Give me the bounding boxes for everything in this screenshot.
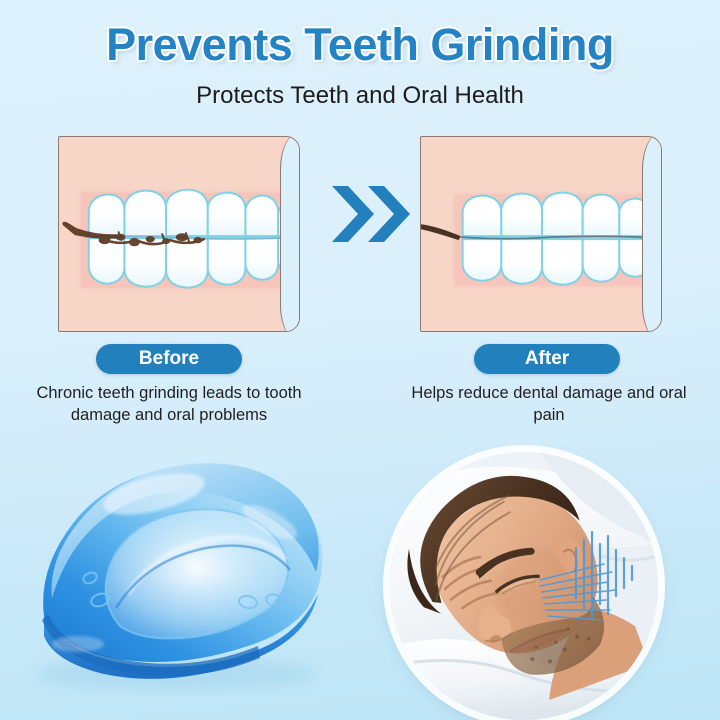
before-label-pill: Before	[96, 344, 242, 374]
before-gum-background	[58, 136, 300, 332]
page-title: Prevents Teeth Grinding	[0, 22, 720, 67]
after-caption: Helps reduce dental damage and oral pain	[398, 382, 700, 427]
page-subtitle: Protects Teeth and Oral Health	[0, 82, 720, 110]
after-teeth-illustration	[421, 137, 661, 331]
before-image-panel	[58, 136, 300, 332]
before-teeth-illustration	[59, 137, 299, 331]
before-caption: Chronic teeth grinding leads to tooth da…	[18, 382, 320, 427]
after-gum-background	[420, 136, 662, 332]
mouthguard-product-image	[8, 448, 338, 696]
double-chevron-right-icon	[328, 180, 414, 248]
after-label-pill: After	[474, 344, 620, 374]
product-infographic: Prevents Teeth Grinding Protects Teeth a…	[0, 0, 720, 720]
after-image-panel	[420, 136, 662, 332]
sleeping-man-photo	[390, 452, 658, 720]
